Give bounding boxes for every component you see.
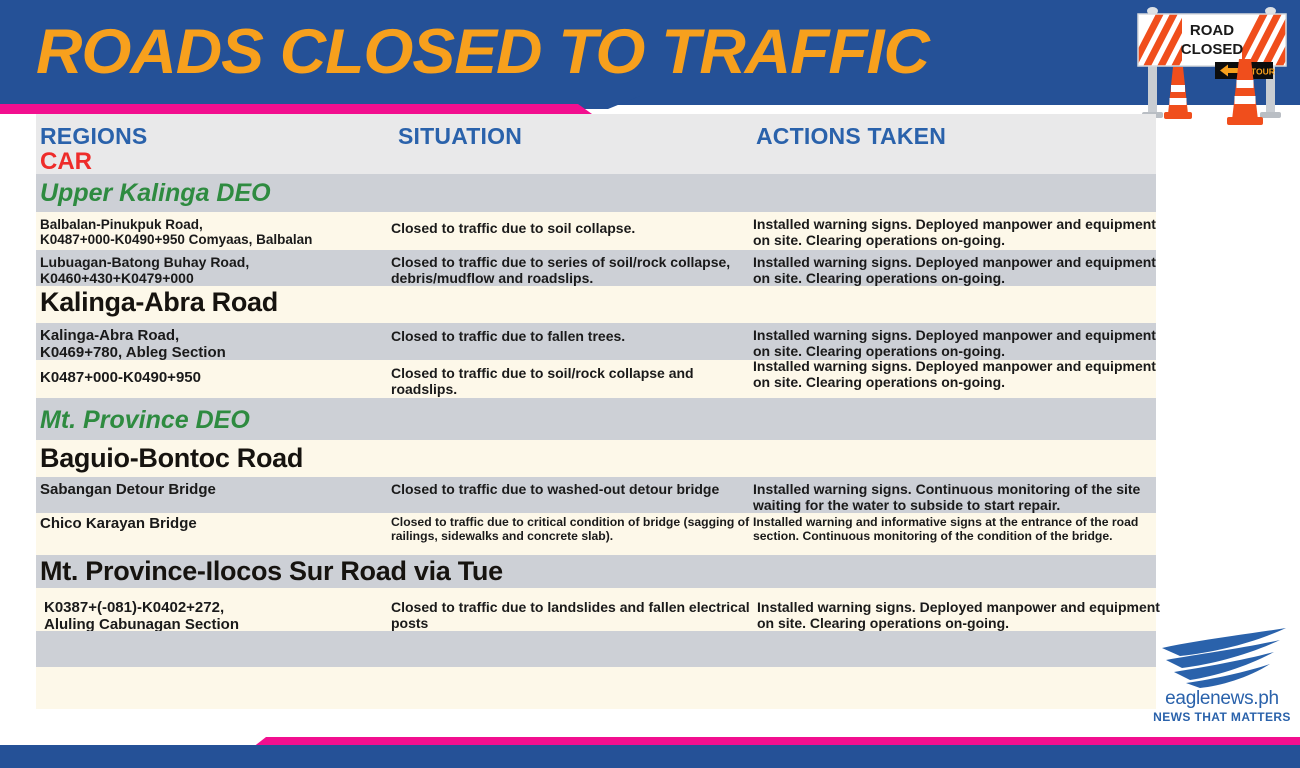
- table-row: Chico Karayan Bridge Closed to traffic d…: [36, 513, 1156, 555]
- cell-situation: Closed to traffic due to washed-out deto…: [391, 481, 751, 497]
- table-row: Balbalan-Pinukpuk Road,K0487+000-K0490+9…: [36, 212, 1156, 250]
- road-closed-sign-icon: ROAD CLOSED DETOUR: [1126, 2, 1298, 127]
- cell-situation: Closed to traffic due to series of soil/…: [391, 254, 751, 286]
- deo-section-header: Mt. Province DEO: [36, 398, 1156, 440]
- cell-region: K0387+(-081)-K0402+272, Aluling Cabunaga…: [44, 599, 394, 633]
- column-header-situation: SITUATION: [398, 123, 758, 150]
- cell-actions: Installed warning signs. Deployed manpow…: [757, 599, 1160, 631]
- eagle-swoosh-icon: [1152, 626, 1292, 688]
- column-header-regions: REGIONS: [40, 123, 390, 150]
- cell-region: Sabangan Detour Bridge: [40, 481, 390, 498]
- region-code-label: CAR: [40, 148, 92, 176]
- eaglenews-logo: eaglenews.ph NEWS THAT MATTERS: [1152, 626, 1292, 734]
- cell-actions: Installed warning signs. Deployed manpow…: [753, 254, 1156, 286]
- cell-region: Balbalan-Pinukpuk Road,K0487+000-K0490+9…: [40, 217, 390, 247]
- logo-wordmark: eaglenews.ph: [1152, 688, 1292, 710]
- cell-region: Chico Karayan Bridge: [40, 517, 390, 531]
- page-title: ROADS CLOSED TO TRAFFIC: [36, 13, 929, 91]
- cell-region: Lubuagan-Batong Buhay Road,K0460+430+K04…: [40, 254, 390, 286]
- table-row: K0487+000-K0490+950 Closed to traffic du…: [36, 360, 1156, 398]
- road-section-title: Mt. Province-Ilocos Sur Road via Tue: [36, 555, 1156, 588]
- sign-text-closed: CLOSED: [1181, 41, 1244, 58]
- table-row: Lubuagan-Batong Buhay Road,K0460+430+K04…: [36, 250, 1156, 286]
- cell-situation: Closed to traffic due to soil collapse.: [391, 221, 751, 236]
- cell-situation: Closed to traffic due to landslides and …: [391, 599, 751, 631]
- cell-actions: Installed warning signs. Deployed manpow…: [753, 358, 1156, 390]
- table-row-empty: [36, 631, 1156, 667]
- cell-actions: Installed warning signs. Continuous moni…: [753, 481, 1156, 513]
- cell-actions: Installed warning signs. Deployed manpow…: [753, 327, 1156, 359]
- sign-text-road: ROAD: [1190, 22, 1234, 39]
- table-row: Kalinga-Abra Road,K0469+780, Ableg Secti…: [36, 323, 1156, 360]
- cell-actions: Installed warning signs. Deployed manpow…: [753, 216, 1156, 248]
- road-title-label: Baguio-Bontoc Road: [40, 443, 303, 474]
- road-title-label: Mt. Province-Ilocos Sur Road via Tue: [40, 556, 503, 587]
- deo-label: Upper Kalinga DEO: [40, 179, 271, 208]
- magenta-accent-top: [0, 104, 592, 114]
- table-row: Sabangan Detour Bridge Closed to traffic…: [36, 477, 1156, 513]
- cell-region: K0487+000-K0490+950: [40, 369, 390, 386]
- logo-tagline: NEWS THAT MATTERS: [1152, 710, 1292, 724]
- cell-situation: Closed to traffic due to fallen trees.: [391, 328, 751, 345]
- cell-situation: Closed to traffic due to soil/rock colla…: [391, 365, 751, 397]
- cell-situation: Closed to traffic due to critical condit…: [391, 516, 751, 543]
- deo-section-header: Upper Kalinga DEO: [36, 174, 1156, 212]
- table-row: K0387+(-081)-K0402+272, Aluling Cabunaga…: [36, 588, 1156, 631]
- cell-region: Kalinga-Abra Road,K0469+780, Ableg Secti…: [40, 327, 390, 361]
- road-section-title: Baguio-Bontoc Road: [36, 440, 1156, 477]
- traffic-cone-left: [1164, 67, 1192, 119]
- column-header-actions: ACTIONS TAKEN: [756, 123, 1159, 150]
- table-header-row: REGIONS SITUATION ACTIONS TAKEN CAR: [36, 114, 1156, 174]
- deo-label: Mt. Province DEO: [40, 406, 250, 435]
- roads-closed-table: REGIONS SITUATION ACTIONS TAKEN CAR Uppe…: [36, 114, 1156, 709]
- cell-actions: Installed warning and informative signs …: [753, 516, 1156, 543]
- road-section-title: Kalinga-Abra Road: [36, 286, 1156, 323]
- footer-banner: [0, 745, 1300, 768]
- table-row-empty: [36, 667, 1156, 709]
- road-title-label: Kalinga-Abra Road: [40, 287, 278, 318]
